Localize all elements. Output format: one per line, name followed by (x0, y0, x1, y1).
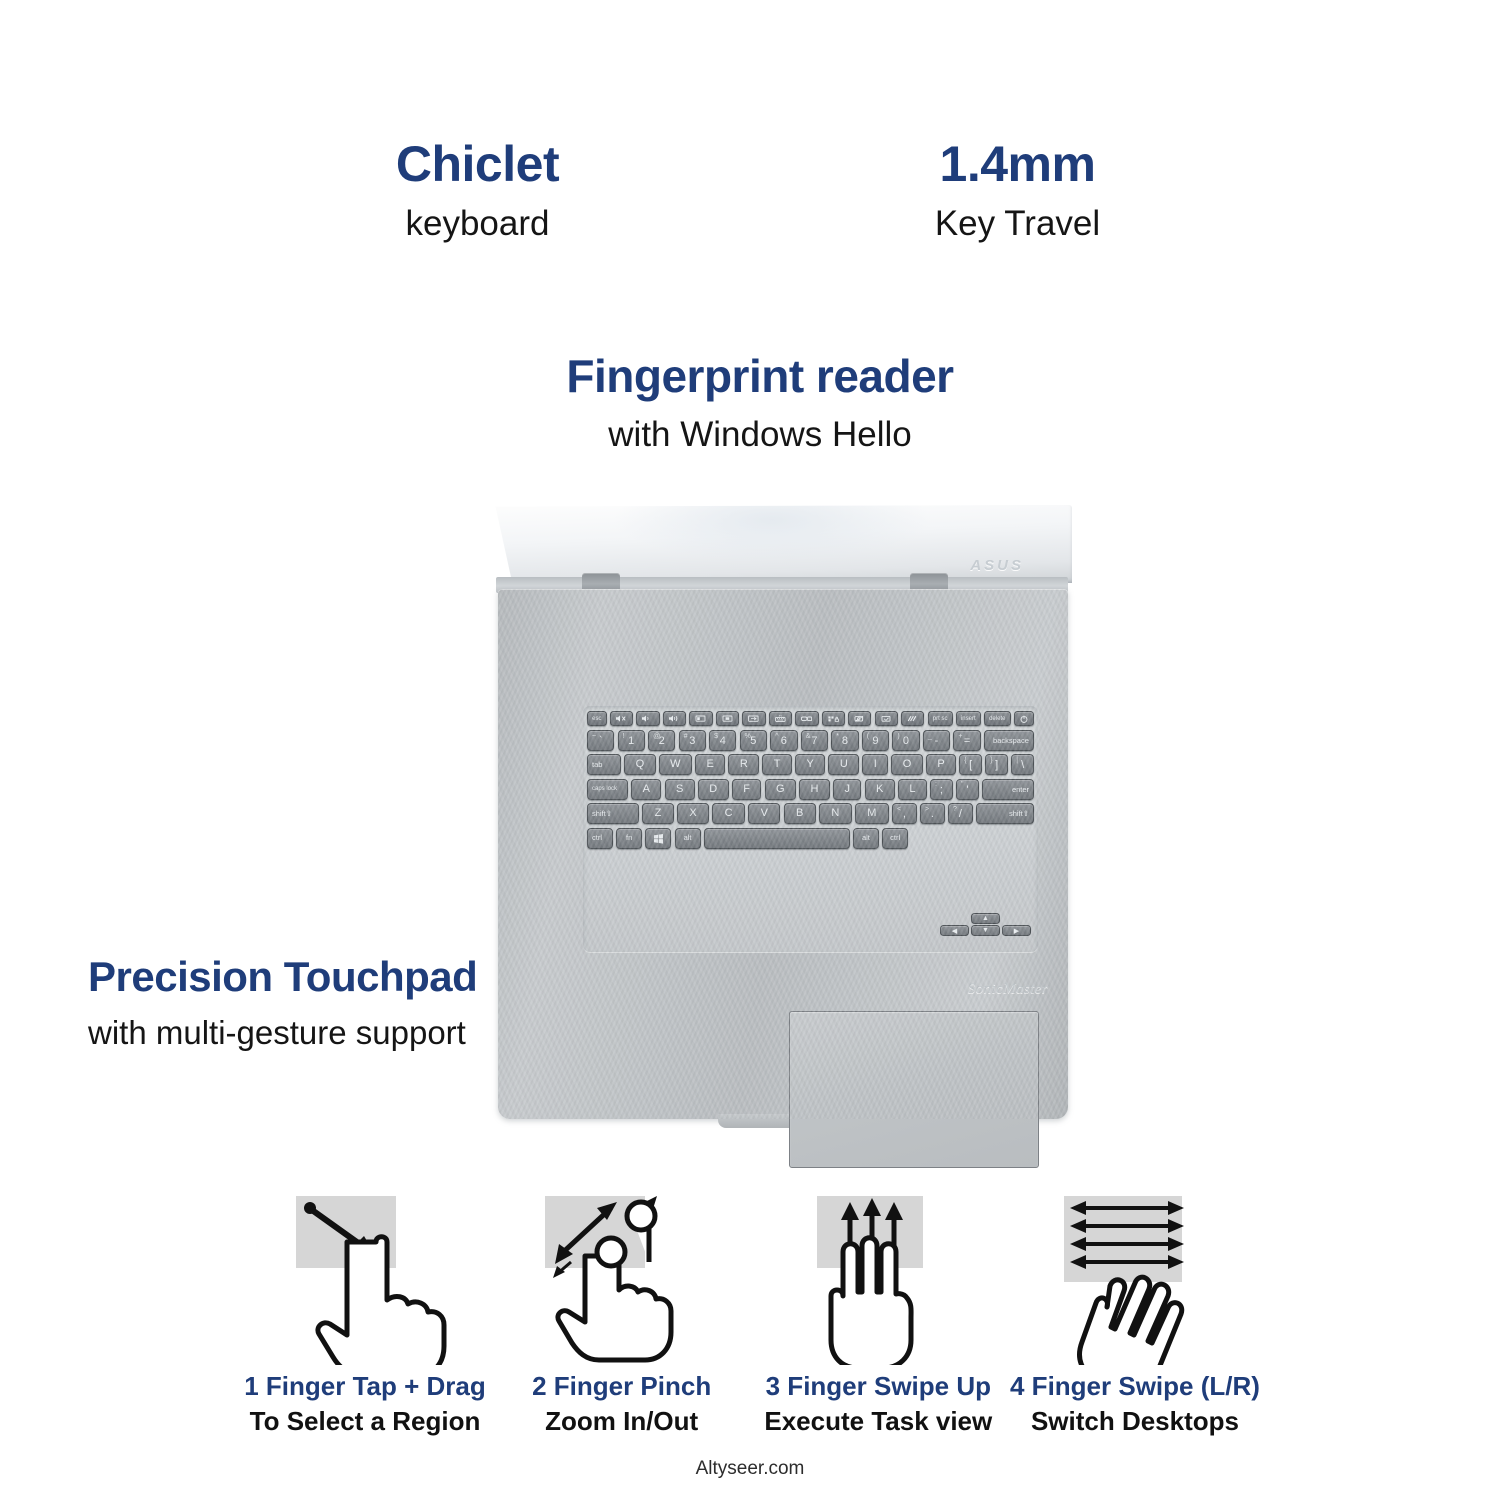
callout-fingerprint-headline: Fingerprint reader (455, 352, 1065, 400)
key-2[interactable]: @2 (648, 730, 675, 751)
key-power-icon[interactable] (1014, 711, 1034, 726)
key-arrow-up[interactable]: ▲ (971, 913, 1000, 924)
key-windows-icon[interactable] (645, 828, 671, 849)
callout-touchpad-headline: Precision Touchpad (60, 955, 520, 999)
key-f11-screenshot-icon[interactable] (875, 711, 898, 726)
key-a[interactable]: A (631, 779, 661, 800)
key-ctrl-right[interactable]: ctrl (882, 828, 908, 849)
key-f8-projector-icon[interactable] (795, 711, 818, 726)
key-tab[interactable]: tab (587, 754, 621, 775)
key-backtick[interactable]: ~` (587, 730, 614, 751)
key-0[interactable]: )0 (892, 730, 919, 751)
key-7[interactable]: &7 (801, 730, 828, 751)
gesture-row: 1 Finger Tap + Drag To Select a Region (240, 1190, 1260, 1437)
key-f[interactable]: F (732, 779, 762, 800)
gesture-item-one-finger: 1 Finger Tap + Drag To Select a Region (240, 1190, 490, 1437)
callout-chiclet-headline: Chiclet (265, 138, 690, 191)
key-f6-display-switch-icon[interactable] (742, 711, 765, 726)
callout-key-travel-headline: 1.4mm (805, 138, 1230, 191)
key-9[interactable]: (9 (862, 730, 889, 751)
key-e[interactable]: E (695, 754, 725, 775)
infographic-page: Chiclet keyboard 1.4mm Key Travel Finger… (0, 0, 1500, 1500)
key-minus[interactable]: _- (923, 730, 950, 751)
key-shift-left[interactable]: shift⇧ (587, 803, 639, 824)
key-k[interactable]: K (865, 779, 895, 800)
gesture-title-1: 1 Finger Tap + Drag (240, 1371, 490, 1402)
key-v[interactable]: V (748, 803, 780, 824)
keyboard-row-shift: shift⇧ Z X C V B N M <, >. ?/ shift⇧ (587, 803, 1034, 824)
key-s[interactable]: S (665, 779, 695, 800)
arrow-key-cluster: ▲ ▼ ◀ ▶ (940, 924, 1032, 948)
key-n[interactable]: N (819, 803, 852, 824)
two-finger-pinch-icon (497, 1190, 747, 1365)
lid-sheen (612, 475, 932, 565)
keyboard-row-function: esc (587, 711, 1034, 726)
key-f3-volume-up-icon[interactable] (663, 711, 686, 726)
key-8[interactable]: *8 (831, 730, 858, 751)
callout-chiclet-sub: keyboard (265, 205, 690, 244)
key-insert[interactable]: insert (956, 711, 981, 726)
key-space[interactable] (704, 828, 850, 849)
gesture-title-4: 4 Finger Swipe (L/R) (1010, 1371, 1260, 1402)
sonicmaster-logo: SonicMaster (968, 981, 1048, 998)
key-shift-right[interactable]: shift⇧ (976, 803, 1034, 824)
key-q[interactable]: Q (624, 754, 655, 775)
key-alt-right[interactable]: alt (853, 828, 879, 849)
key-3[interactable]: #3 (679, 730, 706, 751)
key-semicolon[interactable]: :; (930, 779, 953, 800)
gesture-sub-2: Zoom In/Out (497, 1406, 747, 1437)
key-print-screen[interactable]: prt sc (928, 711, 953, 726)
key-backslash[interactable]: |\ (1011, 754, 1034, 775)
key-bracket-right[interactable]: }] (985, 754, 1008, 775)
key-h[interactable]: H (799, 779, 830, 800)
keyboard-row-home: caps lock A S D F G H J K L :; "' enter (587, 779, 1034, 800)
key-l[interactable]: L (898, 779, 927, 800)
callout-fingerprint-sub: with Windows Hello (455, 416, 1065, 455)
callout-fingerprint-reader: Fingerprint reader with Windows Hello (455, 352, 1065, 455)
key-b[interactable]: B (784, 803, 816, 824)
callout-chiclet: Chiclet keyboard (265, 138, 690, 243)
key-y[interactable]: Y (795, 754, 825, 775)
key-f12-myasus-icon[interactable] (901, 711, 924, 726)
key-ctrl-left[interactable]: ctrl (587, 828, 613, 849)
key-fn[interactable]: fn (616, 828, 642, 849)
gesture-title-2: 2 Finger Pinch (497, 1371, 747, 1402)
key-d[interactable]: D (698, 779, 729, 800)
gesture-item-four-finger: 4 Finger Swipe (L/R) Switch Desktops (1010, 1190, 1260, 1437)
key-g[interactable]: G (765, 779, 796, 800)
key-arrow-down[interactable]: ▼ (971, 925, 1000, 936)
key-delete[interactable]: delete (984, 711, 1011, 726)
keyboard-row-qwerty: tab Q W E R T Y U I O P {[ }] |\ (587, 754, 1034, 775)
keyboard-row-bottom: ctrl fn alt alt ctrl (587, 828, 1034, 849)
key-comma[interactable]: <, (892, 803, 917, 824)
key-5[interactable]: %5 (740, 730, 767, 751)
one-finger-drag-icon (240, 1190, 490, 1365)
key-bracket-left[interactable]: {[ (959, 754, 982, 775)
callout-precision-touchpad: Precision Touchpad with multi-gesture su… (60, 955, 520, 1051)
gesture-sub-4: Switch Desktops (1010, 1406, 1260, 1437)
key-arrow-left[interactable]: ◀ (940, 925, 969, 936)
key-enter[interactable]: enter (982, 779, 1034, 800)
key-1[interactable]: !1 (618, 730, 645, 751)
asus-logo: ASUS (970, 557, 1024, 574)
key-arrow-right[interactable]: ▶ (1002, 925, 1031, 936)
callout-key-travel: 1.4mm Key Travel (805, 138, 1230, 243)
key-6[interactable]: ^6 (770, 730, 797, 751)
key-esc[interactable]: esc (587, 711, 607, 726)
callout-touchpad-sub: with multi-gesture support (60, 1015, 520, 1051)
key-c[interactable]: C (712, 803, 745, 824)
key-f2-volume-down-icon[interactable] (636, 711, 659, 726)
four-finger-swipe-icon (1010, 1190, 1260, 1365)
three-finger-swipe-up-icon (753, 1190, 1003, 1365)
footer-watermark: Altyseer.com (0, 1458, 1500, 1480)
key-alt-left[interactable]: alt (675, 828, 701, 849)
key-f4-brightness-down-icon[interactable] (689, 711, 712, 726)
laptop-base-chassis: esc (498, 589, 1068, 1119)
key-f9-lock-icon[interactable] (822, 711, 845, 726)
gesture-sub-3: Execute Task view (753, 1406, 1003, 1437)
gesture-title-3: 3 Finger Swipe Up (753, 1371, 1003, 1402)
laptop-lid: ASUS (492, 505, 1072, 583)
key-equals[interactable]: += (953, 730, 980, 751)
key-i[interactable]: I (862, 754, 888, 775)
precision-touchpad[interactable] (789, 1011, 1039, 1168)
key-p[interactable]: P (926, 754, 956, 775)
key-f1-mute-icon[interactable] (610, 711, 633, 726)
key-period[interactable]: >. (920, 803, 945, 824)
key-4[interactable]: $4 (709, 730, 736, 751)
key-x[interactable]: X (677, 803, 709, 824)
laptop-illustration: ASUS esc (470, 505, 1070, 1125)
key-f7-keyboard-backlight-icon[interactable] (769, 711, 792, 726)
key-slash[interactable]: ?/ (948, 803, 973, 824)
key-quote[interactable]: "' (956, 779, 979, 800)
key-u[interactable]: U (828, 754, 859, 775)
key-f5-brightness-up-icon[interactable] (716, 711, 739, 726)
key-backspace[interactable]: backspace (984, 730, 1034, 751)
key-z[interactable]: Z (642, 803, 674, 824)
keyboard-well: esc (583, 706, 1038, 953)
gesture-sub-1: To Select a Region (240, 1406, 490, 1437)
key-f10-camera-off-icon[interactable] (848, 711, 871, 726)
key-t[interactable]: T (762, 754, 792, 775)
key-caps-lock[interactable]: caps lock (587, 779, 628, 800)
key-o[interactable]: O (891, 754, 922, 775)
keyboard-row-numbers: ~` !1 @2 #3 $4 %5 ^6 &7 *8 (9 )0 _- += b… (587, 730, 1034, 751)
callout-key-travel-sub: Key Travel (805, 205, 1230, 244)
gesture-item-two-finger: 2 Finger Pinch Zoom In/Out (497, 1190, 747, 1437)
key-r[interactable]: R (728, 754, 759, 775)
gesture-item-three-finger: 3 Finger Swipe Up Execute Task view (753, 1190, 1003, 1437)
key-j[interactable]: J (833, 779, 861, 800)
key-w[interactable]: W (659, 754, 692, 775)
key-m[interactable]: M (855, 803, 889, 824)
